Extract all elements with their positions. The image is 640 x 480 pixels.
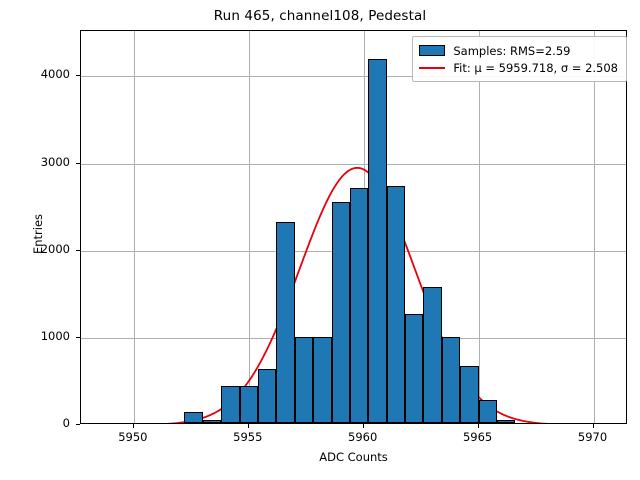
chart-legend: Samples: RMS=2.59 Fit: μ = 5959.718, σ =… — [412, 36, 627, 82]
y-axis-tick — [76, 75, 80, 76]
y-axis-tick — [76, 163, 80, 164]
histogram-bar — [313, 337, 331, 423]
x-axis-tick — [248, 424, 249, 428]
y-axis-tick-label: 0 — [0, 416, 70, 430]
legend-label-fit: Fit: μ = 5959.718, σ = 2.508 — [453, 61, 618, 75]
histogram-bar — [368, 59, 386, 423]
histogram-bar — [203, 420, 221, 423]
histogram-bar — [258, 369, 276, 423]
y-axis-tick — [76, 337, 80, 338]
y-axis-tick-label: 2000 — [0, 242, 70, 256]
histogram-bar — [332, 202, 350, 423]
x-axis-tick — [363, 424, 364, 428]
histogram-figure: Run 465, channel108, Pedestal ADC Counts… — [0, 0, 640, 480]
x-axis-tick-label: 5960 — [328, 430, 398, 444]
x-axis-label: ADC Counts — [80, 450, 627, 464]
y-axis-tick — [76, 424, 80, 425]
x-axis-tick — [478, 424, 479, 428]
x-axis-tick-label: 5970 — [558, 430, 628, 444]
histogram-bar — [387, 186, 405, 423]
y-axis-tick-label: 3000 — [0, 155, 70, 169]
histogram-bar — [460, 366, 478, 423]
y-axis-tick-label: 4000 — [0, 67, 70, 81]
histogram-bar — [497, 420, 515, 423]
histogram-bar — [184, 412, 202, 423]
legend-item-fit: Fit: μ = 5959.718, σ = 2.508 — [419, 59, 618, 76]
chart-title: Run 465, channel108, Pedestal — [0, 8, 640, 24]
x-axis-tick-label: 5965 — [443, 430, 513, 444]
histogram-bar — [276, 222, 294, 423]
histogram-bar — [479, 400, 497, 423]
histogram-bar — [405, 314, 423, 423]
x-axis-tick-label: 5950 — [98, 430, 168, 444]
x-axis-tick-label: 5955 — [213, 430, 283, 444]
histogram-bar — [350, 188, 368, 423]
histogram-bar — [240, 386, 258, 423]
plot-area — [80, 30, 627, 424]
x-axis-tick — [133, 424, 134, 428]
y-axis-tick-label: 1000 — [0, 329, 70, 343]
legend-item-samples: Samples: RMS=2.59 — [419, 42, 618, 59]
legend-label-samples: Samples: RMS=2.59 — [453, 44, 570, 58]
histogram-bar — [295, 337, 313, 423]
histogram-bar — [423, 287, 441, 423]
legend-patch-icon — [419, 45, 445, 56]
legend-line-icon — [419, 67, 445, 69]
histogram-bar — [221, 386, 239, 423]
y-axis-tick — [76, 250, 80, 251]
x-axis-tick — [593, 424, 594, 428]
histogram-bar — [442, 337, 460, 423]
y-axis-label: Entries — [31, 174, 45, 294]
